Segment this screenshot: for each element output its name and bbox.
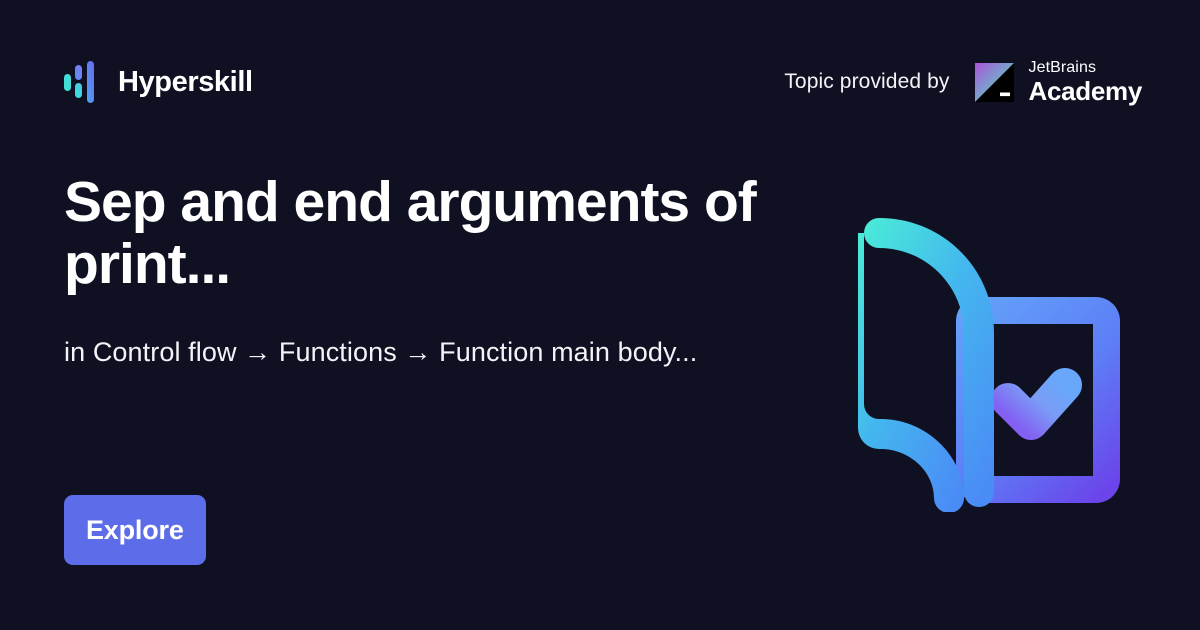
open-book-with-checkmark-illustration-icon [858,212,1138,512]
explore-button[interactable]: Explore [64,495,206,565]
breadcrumb-subtitle: in Control flow → Functions → Function m… [64,333,724,371]
main-content: Sep and end arguments of print... in Con… [64,172,824,371]
academy-word: Academy [1028,78,1142,104]
jetbrains-square-logo-icon [975,63,1014,102]
provider-label: Topic provided by [784,70,949,94]
topic-card: Hyperskill Topic provided by [0,0,1200,630]
provider-lockup: Topic provided by [784,60,1142,104]
header: Hyperskill Topic provided by [64,52,1142,112]
jetbrains-academy-logo[interactable]: JetBrains Academy [975,60,1142,104]
page-title: Sep and end arguments of print... [64,172,794,295]
jetbrains-academy-wordmark: JetBrains Academy [1028,60,1142,104]
hyperskill-brand-name: Hyperskill [118,68,253,97]
hyperskill-brand[interactable]: Hyperskill [64,61,253,103]
hyperskill-bars-logo-icon [64,61,97,103]
jetbrains-word: JetBrains [1028,60,1142,76]
